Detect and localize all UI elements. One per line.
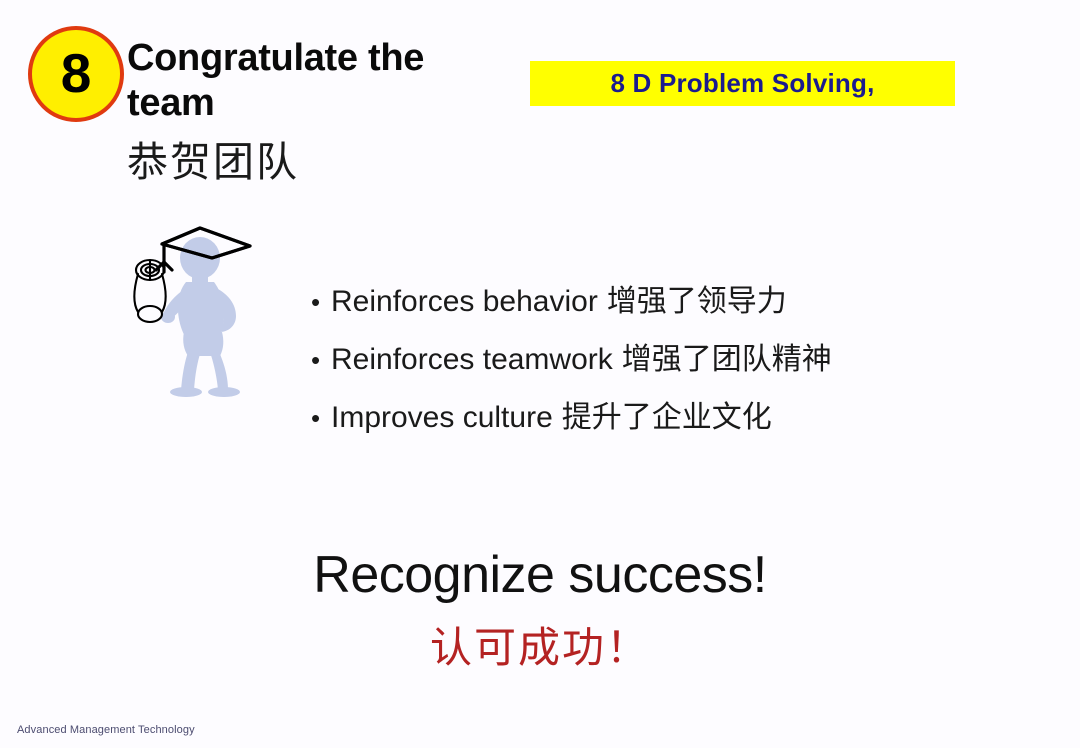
bullet-dot-icon: •: [311, 289, 331, 315]
figure-body-group: [161, 237, 240, 397]
list-item-label-en: Improves culture: [331, 401, 553, 435]
list-item-label-en: Reinforces behavior: [331, 285, 598, 319]
bullet-dot-icon: •: [311, 405, 331, 431]
page-title-chinese: 恭贺团队: [127, 142, 299, 183]
list-item: • Reinforces behavior 增强了领导力: [311, 276, 951, 320]
list-item-label-en: Reinforces teamwork: [331, 343, 613, 377]
list-item: • Reinforces teamwork 增强了团队精神: [311, 334, 951, 378]
list-item: • Improves culture 提升了企业文化: [311, 392, 951, 436]
graduate-figure-illustration: [124, 218, 304, 408]
benefits-bullet-list: • Reinforces behavior 增强了领导力 • Reinforce…: [311, 276, 951, 450]
closing-statement-zh: 认可成功！: [0, 614, 1080, 675]
step-number-badge: 8: [28, 26, 124, 122]
topic-banner-label: 8 D Problem Solving,: [610, 68, 874, 99]
list-item-label-zh: 增强了领导力: [607, 276, 787, 320]
diploma-scroll-icon: [134, 260, 166, 322]
footer-branding: Advanced Management Technology: [17, 724, 195, 736]
list-item-label-zh: 增强了团队精神: [622, 334, 832, 378]
list-item-label-zh: 提升了企业文化: [562, 392, 772, 436]
bullet-dot-icon: •: [311, 347, 331, 373]
topic-banner: 8 D Problem Solving,: [530, 61, 955, 106]
page-title: Congratulate the team: [127, 36, 472, 126]
slide-canvas: 8 Congratulate the team 恭贺团队 8 D Problem…: [0, 0, 1080, 748]
step-number-label: 8: [61, 46, 92, 101]
closing-statement-en: Recognize success!: [0, 545, 1080, 605]
